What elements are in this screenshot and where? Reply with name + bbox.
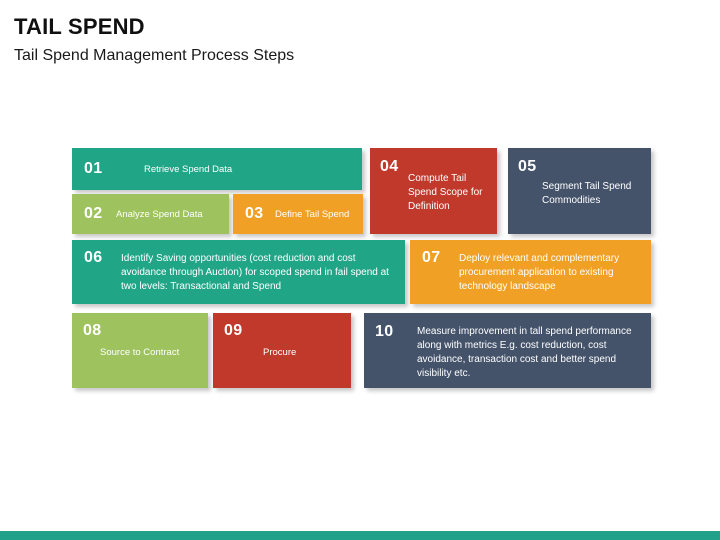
process-step-07-label: Deploy relevant and complementary procur…: [459, 252, 645, 294]
process-step-10[interactable]: 10 Measure improvement in tall spend per…: [364, 313, 651, 388]
process-step-07-number: 07: [422, 249, 440, 267]
footer-accent-bar: [0, 531, 720, 540]
process-step-05-number: 05: [518, 158, 536, 176]
process-step-05[interactable]: 05 Segment Tail Spend Commodities: [508, 148, 651, 234]
process-step-06-number: 06: [84, 249, 102, 267]
process-step-01-label: Retrieve Spend Data: [144, 163, 344, 176]
process-step-09[interactable]: 09 Procure: [213, 313, 351, 388]
process-step-09-number: 09: [224, 322, 242, 340]
process-step-08[interactable]: 08 Source to Contract: [72, 313, 208, 388]
process-step-10-label: Measure improvement in tall spend perfor…: [417, 325, 642, 381]
slide-canvas: TAIL SPEND Tail Spend Management Process…: [0, 0, 720, 540]
process-step-01-number: 01: [84, 160, 102, 178]
process-step-10-number: 10: [375, 323, 393, 341]
process-diagram: 01 Retrieve Spend Data 02 Analyze Spend …: [0, 0, 720, 540]
process-step-02-label: Analyze Spend Data: [116, 208, 226, 221]
process-step-08-label: Source to Contract: [100, 346, 202, 359]
process-step-04-number: 04: [380, 158, 398, 176]
process-step-07[interactable]: 07 Deploy relevant and complementary pro…: [410, 240, 651, 304]
process-step-05-label: Segment Tail Spend Commodities: [542, 180, 642, 208]
process-step-02[interactable]: 02 Analyze Spend Data: [72, 194, 229, 234]
process-step-06-label: Identify Saving opportunities (cost redu…: [121, 252, 396, 294]
process-step-01[interactable]: 01 Retrieve Spend Data: [72, 148, 362, 190]
process-step-08-number: 08: [83, 322, 101, 340]
process-step-04[interactable]: 04 Compute Tail Spend Scope for Definiti…: [370, 148, 497, 234]
process-step-04-label: Compute Tail Spend Scope for Definition: [408, 172, 488, 214]
process-step-03-label: Define Tail Spend: [275, 208, 363, 221]
process-step-03-number: 03: [245, 205, 263, 223]
process-step-06[interactable]: 06 Identify Saving opportunities (cost r…: [72, 240, 405, 304]
process-step-09-label: Procure: [263, 346, 343, 359]
process-step-03[interactable]: 03 Define Tail Spend: [233, 194, 363, 234]
process-step-02-number: 02: [84, 205, 102, 223]
